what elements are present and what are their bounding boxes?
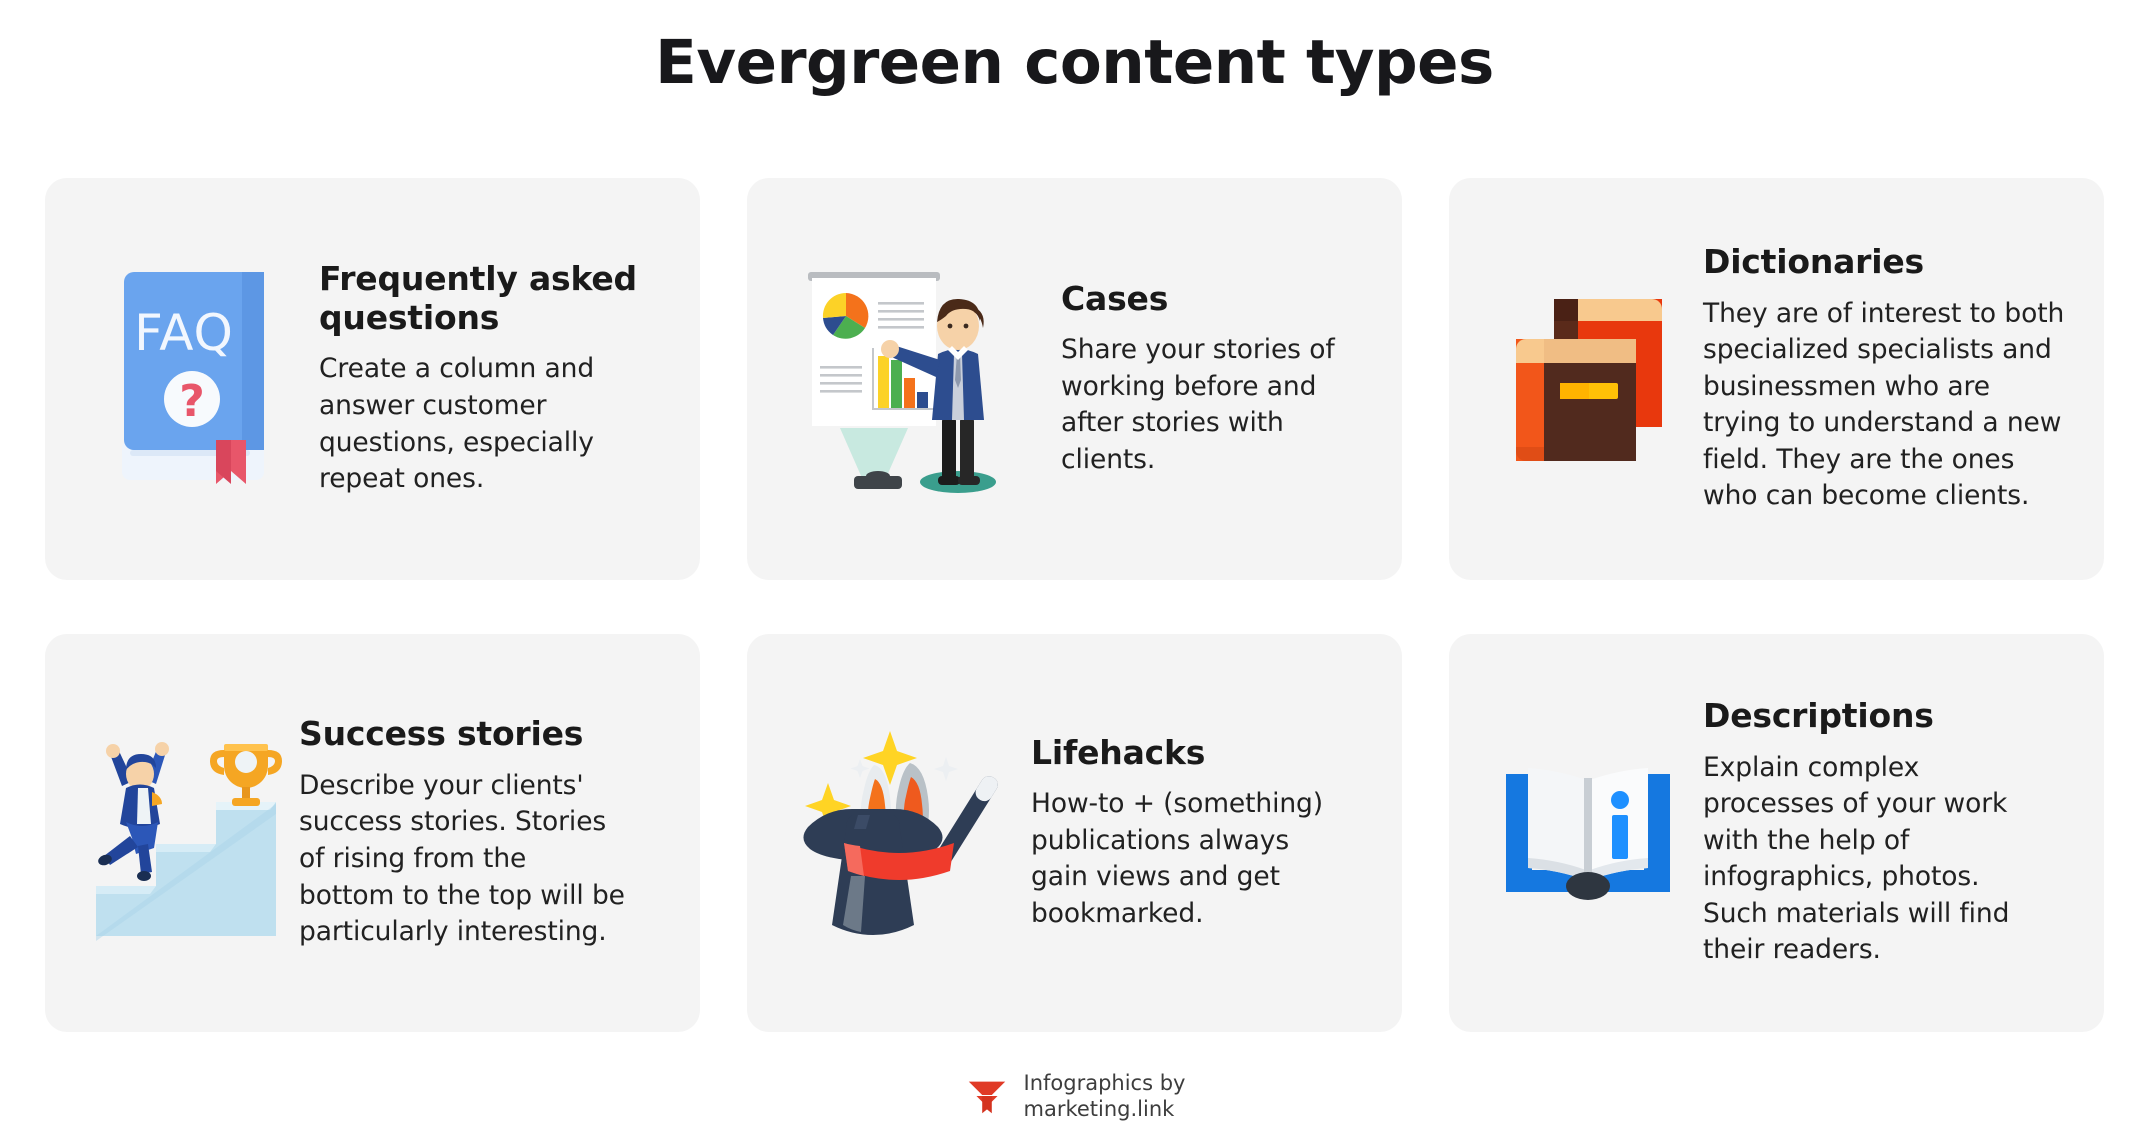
card-description: Describe your clients' success stories. … <box>299 768 625 951</box>
content-cards-grid: FAQ ? Frequently asked questions Create … <box>45 178 2104 1036</box>
footer-line-2: marketing.link <box>1024 1096 1186 1122</box>
card-lifehacks[interactable]: Lifehacks How-to + (something) publicati… <box>747 634 1402 1032</box>
footer-line-1: Infographics by <box>1024 1070 1186 1096</box>
magic-hat-icon <box>771 698 1031 968</box>
svg-text:FAQ: FAQ <box>134 304 234 362</box>
footer-text: Infographics by marketing.link <box>1024 1070 1186 1123</box>
card-description: Create a column and answer customer ques… <box>319 351 645 497</box>
card-description: They are of interest to both specialized… <box>1703 296 2069 515</box>
marketing-link-logo <box>964 1073 1010 1119</box>
presentation-icon <box>771 244 1061 514</box>
footer-attribution: Infographics by marketing.link <box>0 1070 2149 1123</box>
infographic-page: Evergreen content types FAQ ? Frequently <box>0 0 2149 1144</box>
card-descriptions[interactable]: Descriptions Explain complex processes o… <box>1449 634 2104 1032</box>
faq-book-icon: FAQ ? <box>69 244 319 514</box>
card-title: Lifehacks <box>1031 734 1327 773</box>
card-description: Share your stories of working before and… <box>1061 332 1347 478</box>
page-title: Evergreen content types <box>0 0 2149 98</box>
card-title: Success stories <box>299 715 625 754</box>
card-body: Dictionaries They are of interest to bot… <box>1703 243 2073 515</box>
svg-text:?: ? <box>179 376 205 427</box>
card-body: Descriptions Explain complex processes o… <box>1703 697 2033 969</box>
card-description: How-to + (something) publications always… <box>1031 786 1327 932</box>
card-dictionaries[interactable]: Dictionaries They are of interest to bot… <box>1449 178 2104 580</box>
stacked-books-icon <box>1473 244 1703 514</box>
card-description: Explain complex processes of your work w… <box>1703 750 2029 969</box>
card-success-stories[interactable]: Success stories Describe your clients' s… <box>45 634 700 1032</box>
card-frequently-asked-questions[interactable]: FAQ ? Frequently asked questions Create … <box>45 178 700 580</box>
card-body: Cases Share your stories of working befo… <box>1061 280 1351 479</box>
open-book-info-icon <box>1473 698 1703 968</box>
card-title: Frequently asked questions <box>319 260 645 337</box>
card-title: Cases <box>1061 280 1347 319</box>
card-body: Lifehacks How-to + (something) publicati… <box>1031 734 1331 933</box>
stairs-trophy-icon <box>69 698 299 968</box>
card-title: Dictionaries <box>1703 243 2069 282</box>
card-cases[interactable]: Cases Share your stories of working befo… <box>747 178 1402 580</box>
card-body: Success stories Describe your clients' s… <box>299 715 629 950</box>
card-body: Frequently asked questions Create a colu… <box>319 260 649 497</box>
card-title: Descriptions <box>1703 697 2029 736</box>
